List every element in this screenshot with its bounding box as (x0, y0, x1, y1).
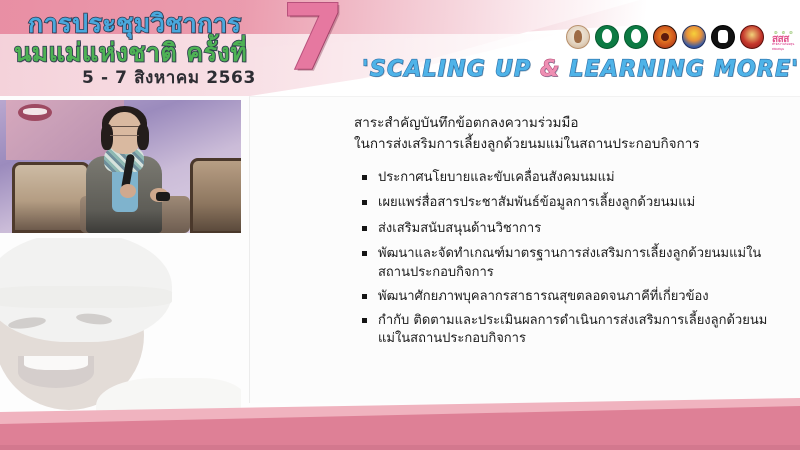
bottom-pink-bar (0, 398, 800, 450)
list-item: กำกับ ติดตามและประเมินผลการดำเนินการส่งเ… (362, 312, 782, 350)
thaihealth-subtext: สำนักงานกองทุนสนับสนุน (772, 42, 798, 52)
list-item: ส่งเสริมสนับสนุนด้านวิชาการ (362, 220, 782, 239)
conference-banner: การประชุมวิชาการ นมแม่แห่งชาติ ครั้งที่ … (0, 0, 800, 96)
content-heading-line2: ในการส่งเสริมการเลี้ยงลูกด้วยนมแม่ในสถาน… (354, 134, 784, 155)
list-item: เผยแพร่สื่อสารประชาสัมพันธ์ข้อมูลการเลี้… (362, 194, 782, 213)
watermark-teeth (24, 356, 88, 370)
speaker-video-thumbnail[interactable] (0, 100, 241, 233)
presentation-slide: การประชุมวิชาการ นมแม่แห่งชาติ ครั้งที่ … (0, 0, 800, 450)
edition-number: 7 (282, 0, 345, 84)
watermark-hat-band (0, 286, 172, 308)
content-heading: สาระสำคัญบันทึกข้อตกลงความร่วมมือ ในการส… (354, 113, 784, 155)
logo-green-seal-2-icon (624, 25, 648, 49)
list-item: พัฒนาและจัดทำเกณฑ์มาตรฐานการส่งเสริมการเ… (362, 245, 782, 283)
logo-green-seal-1-icon (595, 25, 619, 49)
chair-right (190, 158, 241, 233)
sponsor-logo-row: ๏ ๏ ๏ สสส สำนักงานกองทุนสนับสนุน (566, 25, 798, 49)
chair-left (12, 162, 90, 233)
conference-slogan: 'SCALING UP & LEARNING MORE' (362, 57, 799, 82)
conference-date: 5 - 7 สิงหาคม 2563 (82, 64, 256, 91)
slide-content-panel: สาระสำคัญบันทึกข้อตกลงความร่วมมือ ในการส… (249, 96, 800, 403)
list-item: ประกาศนโยบายและขับเคลื่อนสังคมนมแม่ (362, 169, 782, 188)
presenter-clicker (156, 192, 170, 201)
content-heading-line1: สาระสำคัญบันทึกข้อตกลงความร่วมมือ (354, 113, 784, 134)
speaker-glasses (110, 126, 139, 136)
slogan-ampersand: & (540, 57, 560, 82)
logo-red-seal-icon (740, 25, 764, 49)
content-bullet-list: ประกาศนโยบายและขับเคลื่อนสังคมนมแม่ เผยแ… (362, 169, 782, 354)
logo-royal-emblem-icon (566, 25, 590, 49)
logo-royal-crown-emblem-icon (682, 25, 706, 49)
logo-orange-emblem-icon (653, 25, 677, 49)
bottom-bar-edge (0, 445, 800, 450)
list-item: พัฒนาศักยภาพบุคลากรสาธารณสุขตลอดจนภาคีที… (362, 288, 782, 307)
slogan-suffix: LEARNING MORE' (561, 57, 800, 82)
slogan-prefix: 'SCALING UP (362, 57, 540, 82)
speaker-hand-mic (120, 184, 136, 198)
logo-thaihealth-icon: ๏ ๏ ๏ สสส สำนักงานกองทุนสนับสนุน (772, 27, 798, 47)
poster-lips-graphic (18, 104, 52, 121)
logo-black-seal-icon (711, 25, 735, 49)
